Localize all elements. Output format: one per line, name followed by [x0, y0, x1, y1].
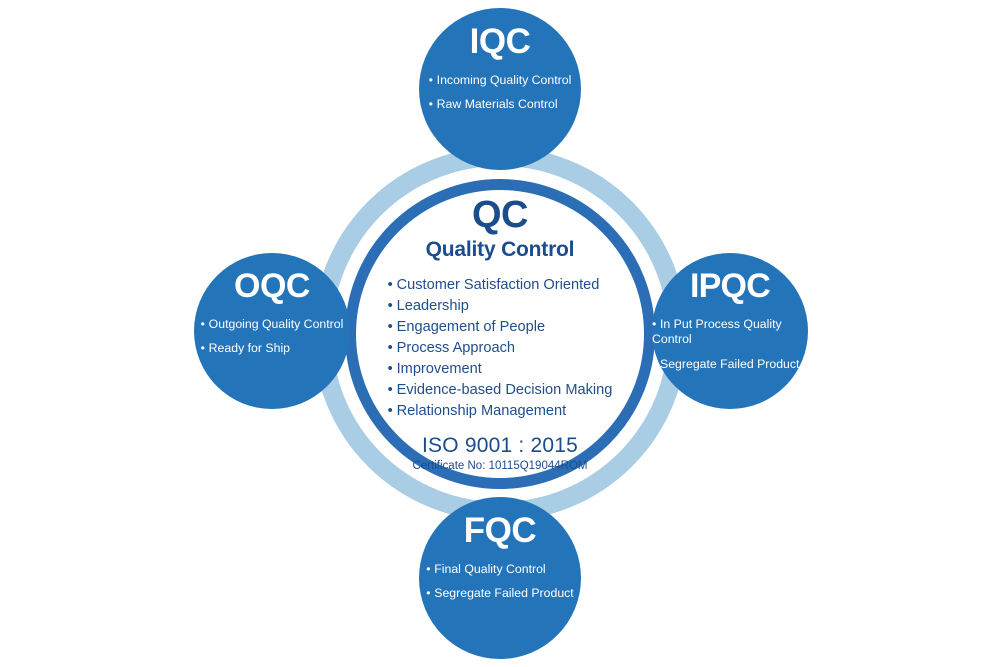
bullet-icon: • — [429, 97, 437, 112]
node-fqc-title: FQC — [464, 513, 536, 548]
list-item: •Leadership — [388, 296, 613, 317]
list-item: •Incoming Quality Control — [429, 73, 572, 88]
qc-principles-list: •Customer Satisfaction Oriented •Leaders… — [388, 275, 613, 422]
bullet-icon: • — [429, 73, 437, 88]
principle-label: Improvement — [397, 361, 482, 377]
bullet-icon: • — [388, 275, 397, 296]
node-ipqc-title: IPQC — [690, 269, 770, 303]
qc-diagram-canvas: QC Quality Control •Customer Satisfactio… — [0, 0, 1000, 667]
list-item: •Process Approach — [388, 338, 613, 359]
node-ipqc-list: •In Put Process Quality Control •Segrega… — [652, 317, 808, 372]
node-iqc-list: •Incoming Quality Control •Raw Materials… — [429, 73, 572, 113]
node-item-label: Incoming Quality Control — [437, 73, 572, 87]
list-item: •Engagement of People — [388, 317, 613, 338]
principle-label: Customer Satisfaction Oriented — [397, 277, 600, 293]
bullet-icon: • — [652, 357, 660, 372]
node-oqc[interactable]: OQC •Outgoing Quality Control •Ready for… — [194, 253, 350, 409]
bullet-icon: • — [388, 296, 397, 317]
node-item-label: In Put Process Quality Control — [652, 317, 782, 346]
node-iqc[interactable]: IQC •Incoming Quality Control •Raw Mater… — [419, 8, 581, 170]
node-fqc[interactable]: FQC •Final Quality Control •Segregate Fa… — [419, 497, 581, 659]
iso-standard-label: ISO 9001 : 2015 — [422, 434, 578, 458]
node-ipqc[interactable]: IPQC •In Put Process Quality Control •Se… — [652, 253, 808, 409]
node-item-label: Raw Materials Control — [437, 97, 558, 111]
principle-label: Engagement of People — [397, 319, 545, 335]
bullet-icon: • — [201, 341, 209, 356]
node-item-label: Outgoing Quality Control — [209, 317, 344, 331]
node-iqc-title: IQC — [470, 24, 531, 59]
node-item-label: Segregate Failed Product — [434, 586, 573, 600]
principle-label: Leadership — [397, 298, 469, 314]
list-item: •Segregate Failed Product — [426, 586, 573, 601]
bullet-icon: • — [201, 317, 209, 332]
bullet-icon: • — [388, 317, 397, 338]
list-item: •Final Quality Control — [426, 562, 573, 577]
list-item: •Outgoing Quality Control — [201, 317, 344, 332]
node-oqc-list: •Outgoing Quality Control •Ready for Shi… — [201, 317, 344, 357]
list-item: •In Put Process Quality Control — [652, 317, 808, 348]
bullet-icon: • — [388, 338, 397, 359]
bullet-icon: • — [652, 317, 660, 332]
node-item-label: Ready for Ship — [209, 341, 290, 355]
list-item: •Segregate Failed Product — [652, 357, 808, 372]
center-subtitle: Quality Control — [426, 238, 575, 261]
principle-label: Process Approach — [397, 340, 515, 356]
bullet-icon: • — [388, 380, 397, 401]
node-fqc-list: •Final Quality Control •Segregate Failed… — [426, 562, 573, 602]
node-item-label: Final Quality Control — [434, 562, 545, 576]
bullet-icon: • — [388, 401, 397, 422]
bullet-icon: • — [388, 359, 397, 380]
node-item-label: Segregate Failed Product — [660, 357, 799, 371]
node-oqc-title: OQC — [234, 269, 310, 303]
list-item: •Improvement — [388, 359, 613, 380]
principle-label: Evidence-based Decision Making — [397, 382, 613, 398]
list-item: •Raw Materials Control — [429, 97, 572, 112]
list-item: •Relationship Management — [388, 401, 613, 422]
center-title: QC — [472, 196, 528, 234]
list-item: •Evidence-based Decision Making — [388, 380, 613, 401]
certificate-number-label: Certificate No: 10115Q19044ROM — [413, 460, 588, 472]
principle-label: Relationship Management — [397, 403, 567, 419]
list-item: •Customer Satisfaction Oriented — [388, 275, 613, 296]
list-item: •Ready for Ship — [201, 341, 344, 356]
center-content: QC Quality Control •Customer Satisfactio… — [352, 186, 648, 482]
